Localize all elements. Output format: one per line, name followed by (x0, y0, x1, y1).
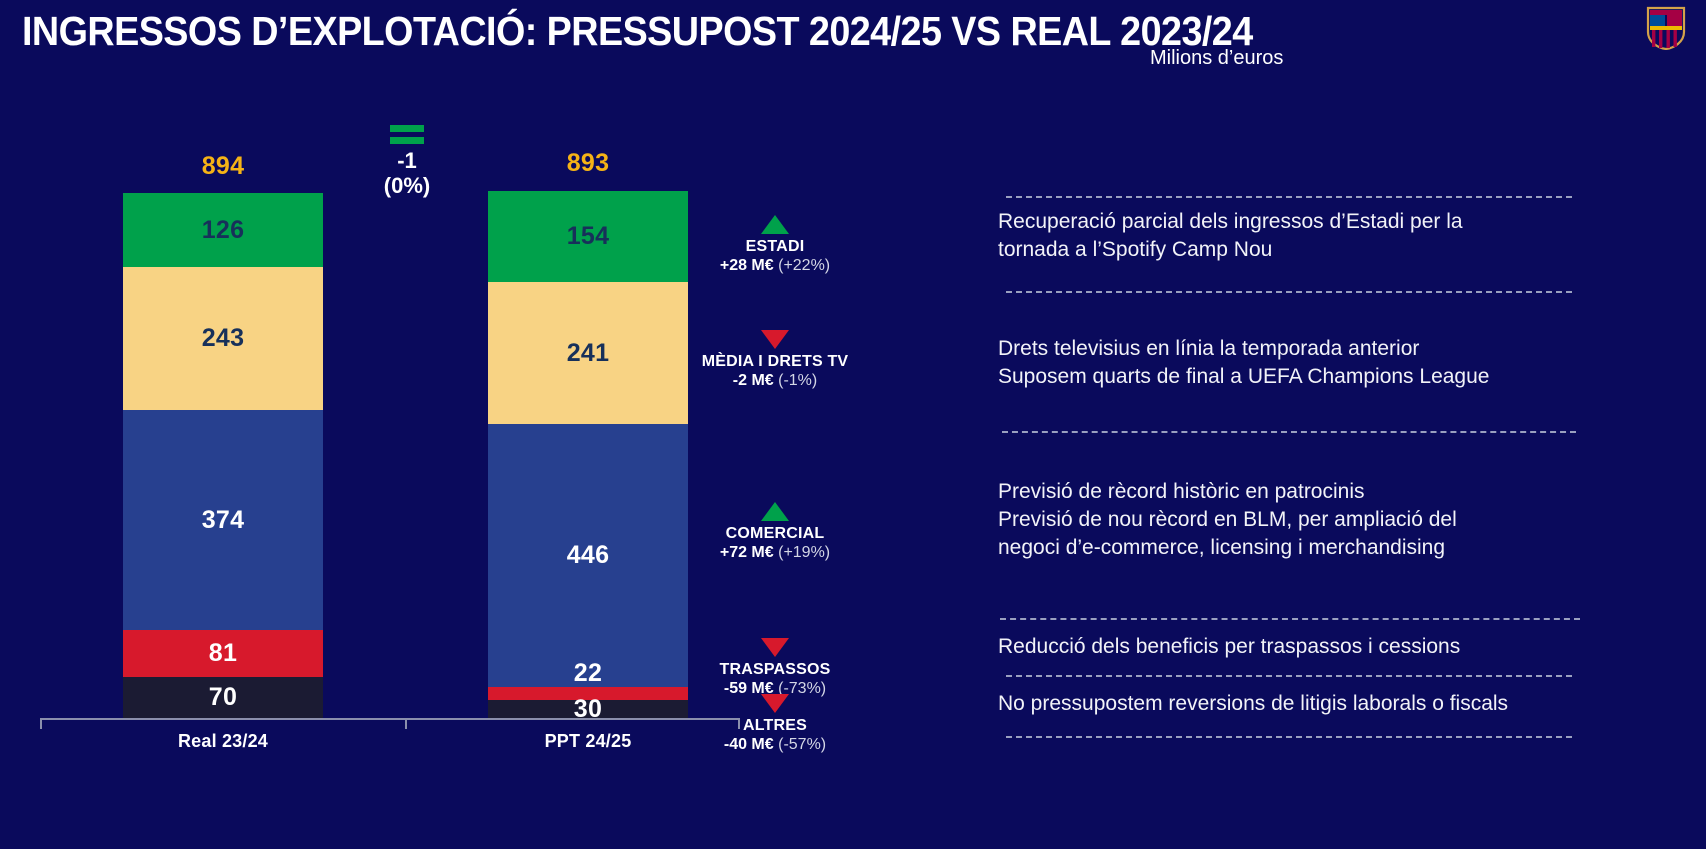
variance-name-comercial: COMERCIAL (660, 525, 890, 543)
note-divider (1006, 196, 1572, 198)
variance-amount-altres: -40 M€ (724, 736, 774, 753)
header: INGRESSOS D’EXPLOTACIÓ: PRESSUPOST 2024/… (0, 0, 1706, 90)
note-divider (1002, 431, 1576, 433)
variance-delta-media: -2 M€ (-1%) (660, 371, 890, 390)
variance-media: MÈDIA I DRETS TV -2 M€ (-1%) (660, 330, 890, 391)
segment-altres-real[interactable]: 70 (123, 677, 323, 718)
segment-value-estadi-real: 126 (202, 218, 245, 243)
variance-percent-altres: (-57%) (778, 736, 826, 753)
variance-delta-altres: -40 M€ (-57%) (660, 735, 890, 754)
variance-amount-estadi: +28 M€ (720, 257, 774, 274)
segment-value-comercial-real: 374 (202, 508, 245, 533)
note-item: No pressupostem reversions de litigis la… (990, 690, 1590, 718)
segment-estadi-ppt[interactable]: 154 (488, 191, 688, 282)
segment-value-media-real: 243 (202, 326, 245, 351)
note-divider (1006, 675, 1572, 677)
variance-delta-comercial: +72 M€ (+19%) (660, 543, 890, 562)
variance-amount-media: -2 M€ (733, 372, 774, 389)
x-axis-tick-left (40, 718, 42, 729)
note-item: Reducció dels beneficis per traspassos i… (990, 633, 1590, 661)
note-text: Previsió de rècord històric en patrocini… (990, 478, 1590, 562)
variance-delta-estadi: +28 M€ (+22%) (660, 256, 890, 275)
variance-name-traspassos: TRASPASSOS (660, 661, 890, 679)
bar-stack-ppt-2425: 154 241 446 22 30 (488, 191, 688, 718)
variance-altres: ALTRES -40 M€ (-57%) (660, 694, 890, 755)
note-divider (1000, 618, 1580, 620)
variance-comercial: COMERCIAL +72 M€ (+19%) (660, 502, 890, 563)
segment-altres-ppt[interactable]: 30 (488, 700, 688, 718)
x-axis-label-real-2324: Real 23/24 (123, 731, 323, 752)
notes-panel: Recuperació parcial dels ingressos d’Est… (990, 90, 1590, 849)
variance-name-media: MÈDIA I DRETS TV (660, 353, 890, 371)
bar-total-real-2324: 894 (123, 152, 323, 181)
note-item: Drets televisius en línia la temporada a… (990, 335, 1590, 391)
total-variance-value: -1 (352, 149, 462, 174)
x-axis-label-ppt-2425: PPT 24/25 (488, 731, 688, 752)
note-text: Recuperació parcial dels ingressos d’Est… (990, 208, 1590, 264)
segment-estadi-real[interactable]: 126 (123, 193, 323, 267)
segment-comercial-real[interactable]: 374 (123, 410, 323, 630)
note-text: Reducció dels beneficis per traspassos i… (990, 633, 1590, 661)
segment-value-media-ppt: 241 (567, 341, 610, 366)
variance-estadi: ESTADI +28 M€ (+22%) (660, 215, 890, 276)
fc-barcelona-crest-icon (1646, 6, 1686, 50)
variance-percent-estadi: (+22%) (778, 257, 830, 274)
bar-total-ppt-2425: 893 (488, 149, 688, 178)
note-text: Drets televisius en línia la temporada a… (990, 335, 1590, 391)
note-divider (1006, 291, 1572, 293)
segment-value-estadi-ppt: 154 (567, 224, 610, 249)
segment-traspassos-real[interactable]: 81 (123, 630, 323, 677)
page-title: INGRESSOS D’EXPLOTACIÓ: PRESSUPOST 2024/… (22, 8, 1253, 55)
triangle-up-icon (761, 502, 789, 521)
units-subtitle: Milions d’euros (1150, 47, 1283, 70)
triangle-down-icon (761, 638, 789, 657)
variance-percent-media: (-1%) (778, 372, 817, 389)
segment-value-traspassos-ppt: 22 (488, 661, 688, 686)
variance-percent-comercial: (+19%) (778, 544, 830, 561)
variance-traspassos: TRASPASSOS -59 M€ (-73%) (660, 638, 890, 699)
variance-name-altres: ALTRES (660, 717, 890, 735)
note-item: Previsió de rècord històric en patrocini… (990, 478, 1590, 562)
segment-value-altres-real: 70 (209, 685, 237, 710)
segment-comercial-ppt[interactable]: 446 (488, 424, 688, 687)
variance-name-estadi: ESTADI (660, 238, 890, 256)
note-item: Recuperació parcial dels ingressos d’Est… (990, 208, 1590, 264)
total-variance-percent: (0%) (352, 174, 462, 199)
variance-amount-comercial: +72 M€ (720, 544, 774, 561)
segment-media-ppt[interactable]: 241 (488, 282, 688, 424)
note-divider (1006, 736, 1572, 738)
note-text: No pressupostem reversions de litigis la… (990, 690, 1590, 718)
x-axis-tick-mid (405, 718, 407, 729)
triangle-down-icon (761, 330, 789, 349)
equals-icon (390, 125, 424, 144)
segment-value-traspassos-real: 81 (209, 641, 237, 666)
triangle-down-icon (761, 694, 789, 713)
triangle-up-icon (761, 215, 789, 234)
bar-stack-real-2324: 126 243 374 81 70 (123, 193, 323, 718)
segment-media-real[interactable]: 243 (123, 267, 323, 410)
total-variance-block: -1 (0%) (352, 125, 462, 198)
x-axis-line (40, 718, 740, 720)
segment-value-comercial-ppt: 446 (567, 543, 610, 568)
stacked-bar-chart: 894 126 243 374 81 70 -1 (0%) 893 (0, 90, 980, 849)
